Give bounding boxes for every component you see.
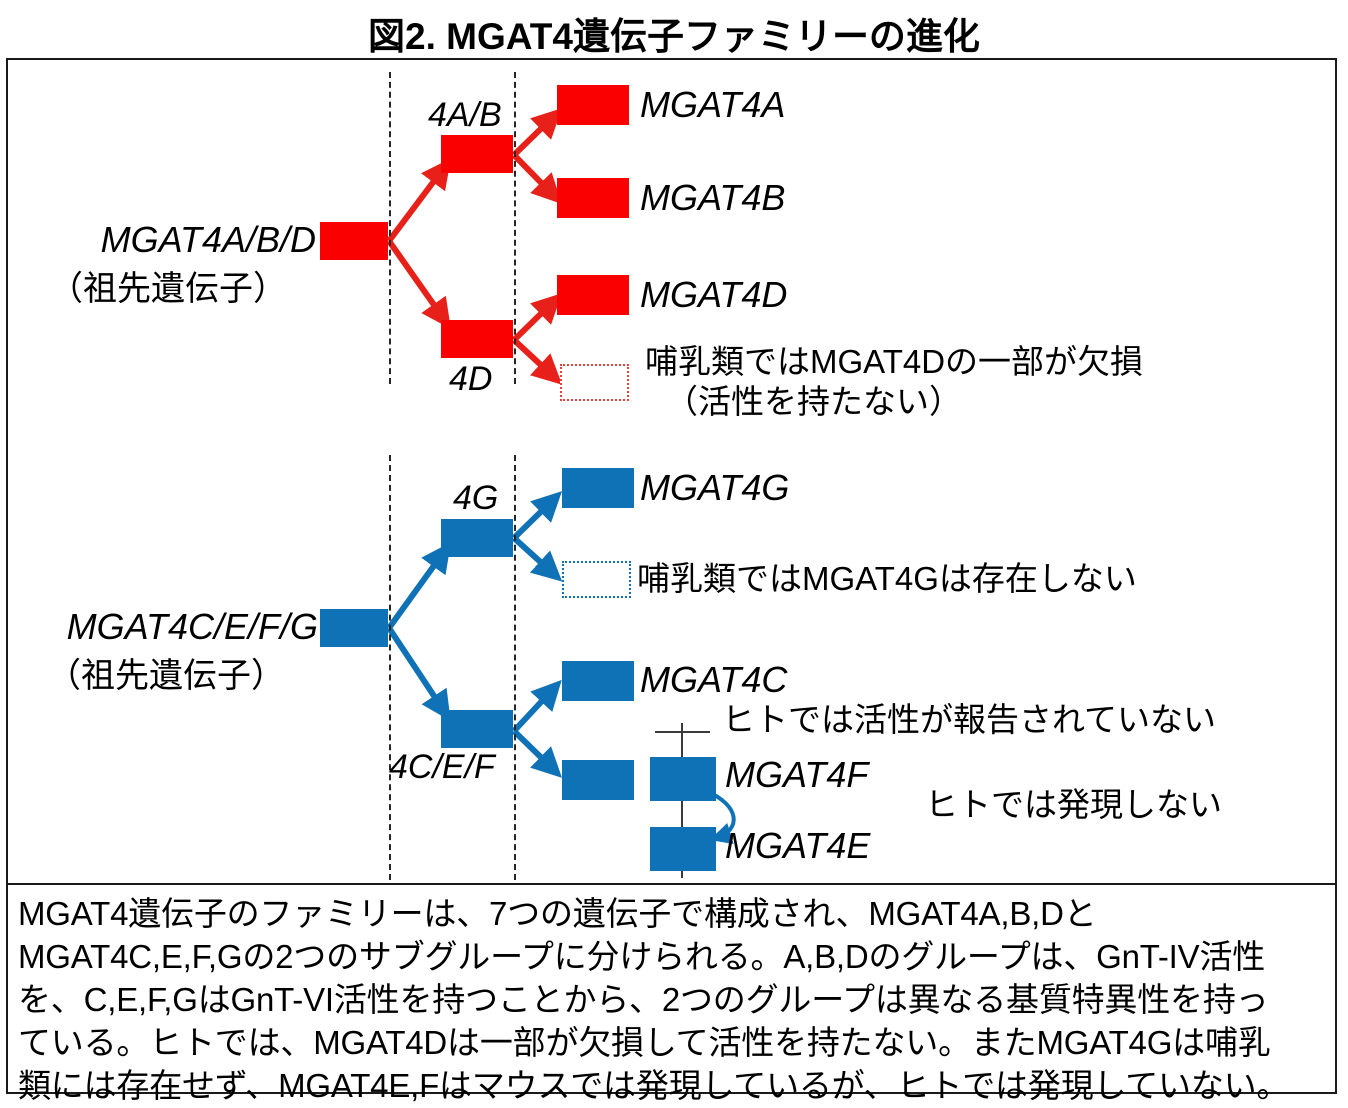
gene-box-mgat4d-deleted bbox=[560, 364, 629, 401]
gene-box-mgat4g bbox=[562, 468, 634, 508]
gene-box-mgat4cef-locus bbox=[562, 760, 634, 800]
ancestor-sublabel-abd: （祖先遺伝子） bbox=[20, 261, 316, 310]
caption-line-1: MGAT4遺伝子のファミリーは、7つの遺伝子で構成され、MGAT4A,B,Dと bbox=[18, 893, 1328, 936]
node-label-4g: 4G bbox=[453, 479, 498, 518]
caption-line-5: 類には存在せず、MGAT4E,Fはマウスでは発現しているが、ヒトでは発現していな… bbox=[18, 1065, 1328, 1108]
gene-label-mgat4e: MGAT4E bbox=[725, 825, 870, 867]
caption-line-4: ている。ヒトでは、MGAT4Dは一部が欠損して活性を持たない。またMGAT4Gは… bbox=[18, 1022, 1328, 1065]
gene-box-node-4g bbox=[441, 519, 513, 557]
gene-box-node-4cef bbox=[441, 710, 513, 748]
annotation-mgat4g-absent: 哺乳類ではMGAT4Gは存在しない bbox=[637, 560, 1137, 599]
annotation-mgat4d-partial-deletion-line2: （活性を持たない） bbox=[665, 383, 962, 422]
gene-box-ancestor-cefg bbox=[320, 609, 388, 647]
ancestor-sublabel-cefg: （祖先遺伝子） bbox=[14, 648, 318, 697]
era-divider-4 bbox=[514, 455, 516, 880]
gene-label-mgat4d: MGAT4D bbox=[640, 274, 787, 316]
ancestor-label-abd: MGAT4A/B/D bbox=[20, 219, 316, 261]
gene-label-mgat4g: MGAT4G bbox=[640, 467, 789, 509]
gene-box-mgat4e bbox=[650, 827, 716, 871]
gene-box-ancestor-abd bbox=[320, 222, 388, 260]
node-label-4d: 4D bbox=[449, 360, 492, 399]
gene-label-mgat4a: MGAT4A bbox=[640, 84, 785, 126]
caption-divider bbox=[7, 883, 1336, 885]
annotation-mgat4c-no-activity: ヒトでは活性が報告されていない bbox=[722, 701, 1216, 740]
gene-box-mgat4d bbox=[557, 275, 629, 315]
gene-box-mgat4g-absent bbox=[562, 561, 631, 598]
figure-caption: MGAT4遺伝子のファミリーは、7つの遺伝子で構成され、MGAT4A,B,Dと … bbox=[18, 893, 1328, 1107]
annotation-mgat4d-partial-deletion-line1: 哺乳類ではMGAT4Dの一部が欠損 bbox=[645, 343, 1143, 382]
annotation-mgat4ef-no-expression: ヒトでは発現しない bbox=[925, 786, 1222, 825]
gene-box-mgat4a bbox=[557, 85, 629, 125]
gene-label-mgat4b: MGAT4B bbox=[640, 177, 785, 219]
ancestor-label-cefg: MGAT4C/E/F/G bbox=[14, 606, 318, 648]
era-divider-1 bbox=[389, 72, 391, 384]
gene-box-mgat4f bbox=[650, 757, 716, 801]
gene-label-mgat4c: MGAT4C bbox=[640, 659, 787, 701]
node-label-4cef: 4C/E/F bbox=[389, 748, 495, 787]
era-divider-2 bbox=[514, 72, 516, 384]
gene-label-mgat4f: MGAT4F bbox=[725, 754, 868, 796]
caption-line-3: を、C,E,F,GはGnT-VI活性を持つことから、2つのグループは異なる基質特… bbox=[18, 979, 1328, 1022]
node-label-4ab: 4A/B bbox=[428, 96, 502, 135]
gene-box-node-4ab bbox=[441, 135, 513, 173]
figure-page: 図2. MGAT4遺伝子ファミリーの進化 bbox=[0, 0, 1348, 1108]
page-title: 図2. MGAT4遺伝子ファミリーの進化 bbox=[0, 6, 1348, 60]
era-divider-3 bbox=[389, 455, 391, 880]
gene-box-mgat4c bbox=[562, 661, 634, 701]
gene-box-node-4d bbox=[441, 320, 513, 358]
duplication-axis-crossbar bbox=[655, 731, 710, 733]
gene-box-mgat4b bbox=[557, 178, 629, 218]
caption-line-2: MGAT4C,E,F,Gの2つのサブグループに分けられる。A,B,Dのグループは… bbox=[18, 936, 1328, 979]
